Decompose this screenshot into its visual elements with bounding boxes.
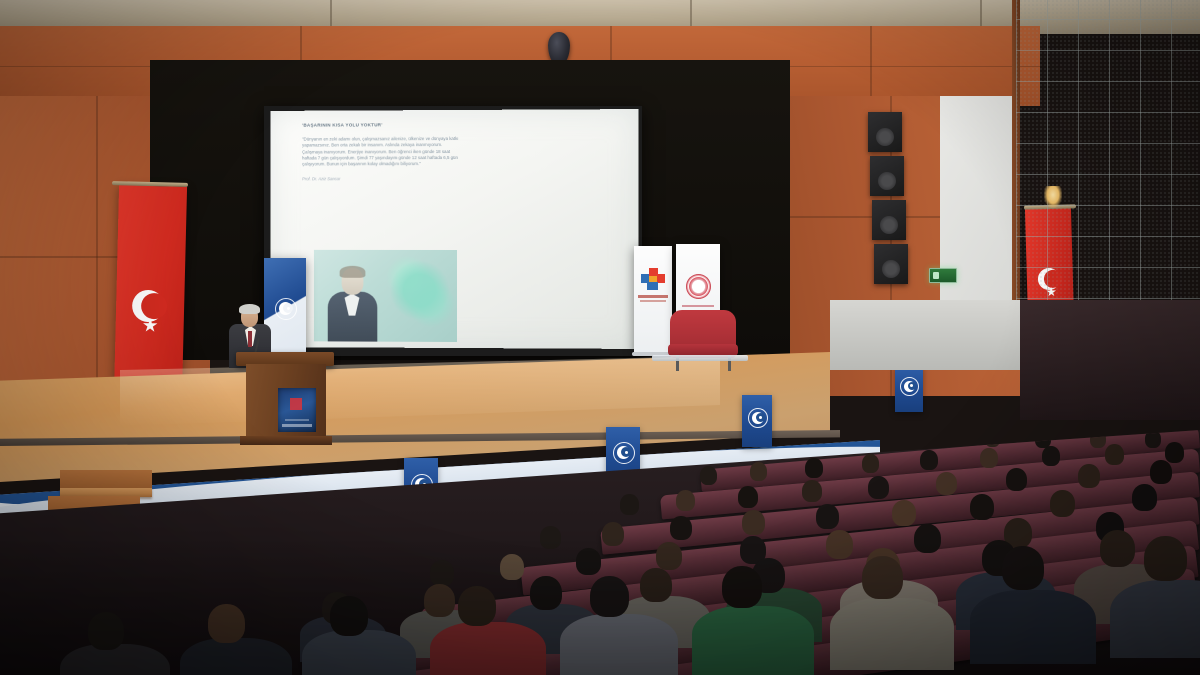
wall-light-icon	[1044, 186, 1062, 208]
loudspeaker-3	[872, 200, 906, 240]
stage-table	[652, 355, 748, 361]
exit-sign	[929, 268, 957, 283]
crescent-star-emblem-icon	[275, 298, 297, 320]
lectern-display	[278, 388, 316, 432]
ministry-seal-icon	[686, 274, 711, 299]
loudspeaker-1	[868, 112, 902, 152]
auditorium-photo: 'BAŞARININ KISA YOLU YOKTUR' "Dünyanın e…	[0, 0, 1200, 675]
slide-attribution: Prof. Dr. Aziz Sancar	[302, 176, 614, 182]
slide-title: 'BAŞARININ KISA YOLU YOKTUR'	[302, 121, 614, 127]
acoustic-panel-wall	[1016, 0, 1200, 330]
loudspeaker-4	[874, 244, 908, 284]
apron-banner-4	[895, 366, 923, 412]
banner-turkiye-yuzyili	[634, 246, 672, 354]
crescent-icon	[132, 290, 165, 323]
projection-screen: 'BAŞARININ KISA YOLU YOKTUR' "Dünyanın e…	[271, 109, 639, 349]
apron-banner-3	[742, 395, 772, 447]
slide-portrait-image	[314, 250, 457, 342]
rear-wall	[830, 300, 1030, 370]
slide-body-text: "Dünyanın en zeki adamı olun, çalışmazsa…	[302, 136, 459, 168]
turkiye-yuzyili-logo-icon	[641, 268, 665, 290]
loudspeaker-2	[870, 156, 904, 196]
